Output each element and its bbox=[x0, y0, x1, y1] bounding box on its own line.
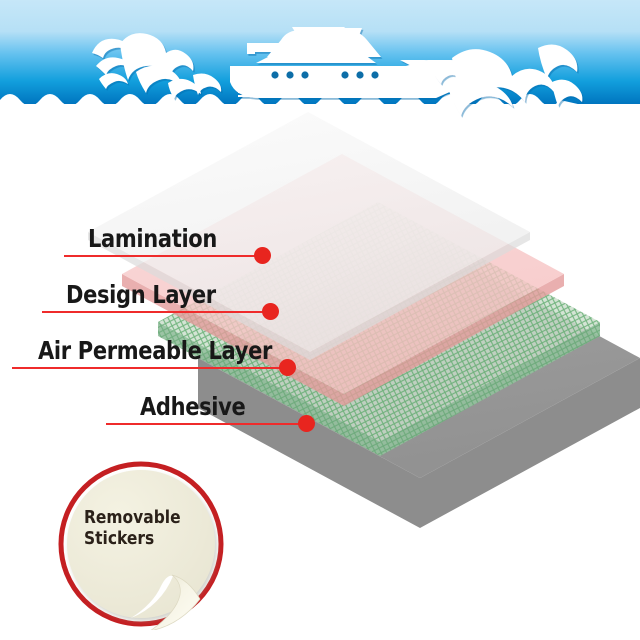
callout-label-design: Design Layer bbox=[66, 282, 216, 307]
callout-label-adhesive: Adhesive bbox=[140, 394, 245, 419]
callout-label-lamination: Lamination bbox=[88, 226, 217, 251]
badge-text-line-2: Stickers bbox=[84, 528, 187, 549]
callout-label-air-permeable: Air Permeable Layer bbox=[38, 338, 272, 363]
callout-leader-line-design bbox=[42, 311, 264, 313]
callout-leader-line-air-permeable bbox=[12, 367, 282, 369]
badge-text-line-1: Removable bbox=[84, 507, 187, 528]
banner-graphic bbox=[0, 0, 640, 118]
header-banner bbox=[0, 0, 640, 118]
badge-text-block: Removable Stickers bbox=[84, 507, 187, 549]
poster-root: Lamination Design Layer Air Permeable La… bbox=[0, 0, 640, 640]
callout-leader-line-adhesive bbox=[106, 423, 303, 425]
callout-dot-adhesive[interactable] bbox=[298, 415, 315, 432]
callout-dot-air-permeable[interactable] bbox=[279, 359, 296, 376]
callout-leader-line-lamination bbox=[64, 255, 264, 257]
removable-sticker-badge[interactable]: Removable Stickers bbox=[55, 458, 227, 630]
callout-dot-lamination[interactable] bbox=[254, 247, 271, 264]
callout-dot-design[interactable] bbox=[262, 303, 279, 320]
